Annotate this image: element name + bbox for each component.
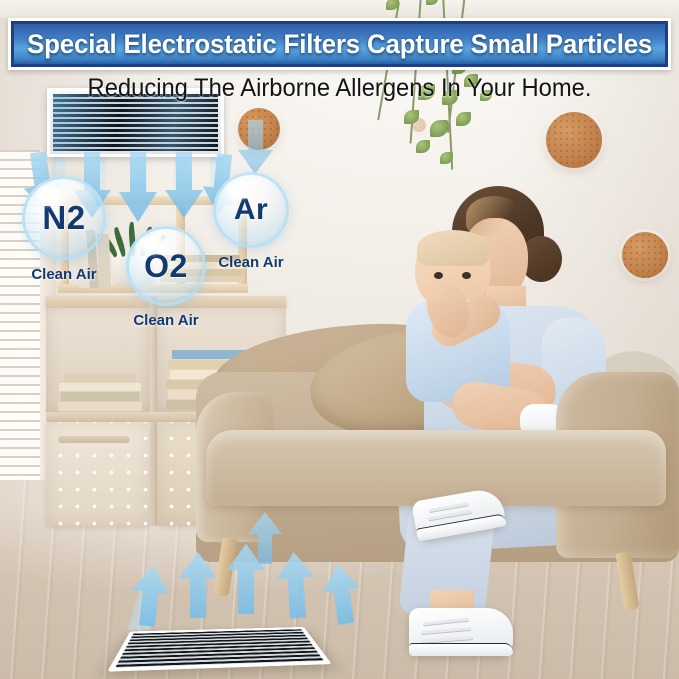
product-marketing-image: N2 Clean Air O2 Clean Air Ar Clean Air <box>0 0 679 679</box>
bubble-circle: Ar <box>213 172 289 248</box>
badge-caption: Clean Air <box>22 266 106 283</box>
cork-wall-circle <box>546 112 602 168</box>
badge-symbol: N2 <box>22 176 106 260</box>
badge-caption: Clean Air <box>213 254 289 271</box>
cork-wall-circle <box>622 232 668 278</box>
shelf-divider <box>150 296 157 526</box>
cork-wall-circle <box>238 108 280 150</box>
baby-eye <box>462 272 471 279</box>
bubble-circle: O2 <box>126 226 206 306</box>
header-banner: Special Electrostatic Filters Capture Sm… <box>8 18 671 70</box>
badge-symbol: Ar <box>213 172 289 248</box>
badge-symbol: O2 <box>126 226 206 306</box>
badge-caption: Clean Air <box>126 312 206 329</box>
banner-title: Special Electrostatic Filters Capture Sm… <box>27 29 652 60</box>
subtitle-text: Reducing The Airborne Allergens In Your … <box>88 74 592 103</box>
badge-ar: Ar Clean Air <box>213 172 289 271</box>
baby-hair <box>417 230 489 266</box>
banner-inner: Special Electrostatic Filters Capture Sm… <box>11 21 668 67</box>
sneaker <box>409 608 513 656</box>
badge-o2: O2 Clean Air <box>126 226 206 329</box>
floor-air-vent-grille <box>107 627 331 672</box>
badge-n2: N2 Clean Air <box>22 176 106 283</box>
storage-bin <box>46 422 150 526</box>
sofa-seat-cushion <box>206 430 666 506</box>
baby-eye <box>434 272 443 279</box>
books-in-cubby <box>58 372 144 412</box>
ceiling-strip <box>0 0 679 18</box>
mother-hair-highlight <box>466 196 522 236</box>
subtitle: Reducing The Airborne Allergens In Your … <box>17 74 662 103</box>
bubble-circle: N2 <box>22 176 106 260</box>
